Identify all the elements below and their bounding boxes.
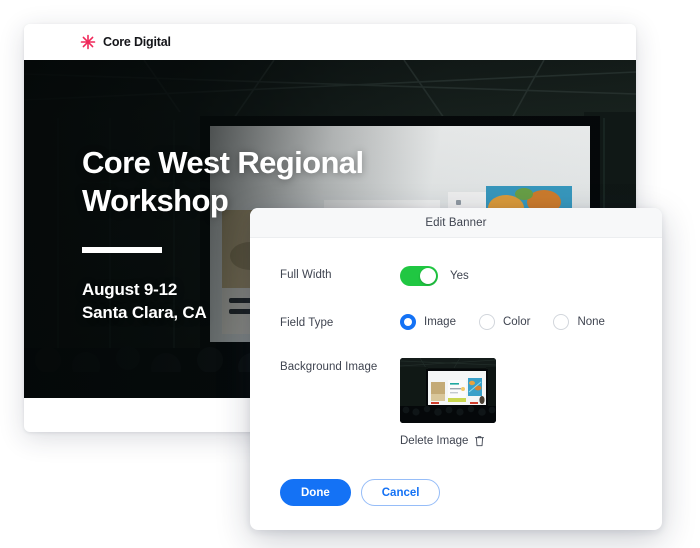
modal-footer: Done Cancel (250, 475, 662, 530)
field-type-label: Field Type (280, 314, 400, 329)
edit-banner-modal: Edit Banner Full Width Yes Field Type Im… (250, 208, 662, 530)
asterisk-starburst-icon (80, 34, 96, 50)
cancel-button[interactable]: Cancel (361, 479, 441, 506)
full-width-toggle[interactable] (400, 266, 438, 286)
done-button[interactable]: Done (280, 479, 351, 506)
background-image-thumbnail[interactable] (400, 358, 496, 423)
full-width-value: Yes (450, 270, 469, 282)
radio-dot-color[interactable] (479, 314, 495, 330)
field-type-control: Image Color None (400, 314, 632, 330)
thumbnail-column: Delete Image (400, 358, 496, 447)
delete-image-label: Delete Image (400, 435, 468, 447)
background-image-label: Background Image (280, 358, 400, 373)
background-image-control: Delete Image (400, 358, 632, 447)
modal-title: Edit Banner (425, 217, 486, 229)
modal-body: Full Width Yes Field Type Image (250, 238, 662, 447)
brand-logo[interactable]: Core Digital (80, 34, 171, 50)
radio-dot-none[interactable] (553, 314, 569, 330)
field-type-radio-group: Image Color None (400, 314, 605, 330)
delete-image-button[interactable]: Delete Image (400, 435, 485, 447)
radio-label-image: Image (424, 316, 456, 328)
radio-option-color[interactable]: Color (479, 314, 530, 330)
full-width-control: Yes (400, 266, 632, 286)
trash-icon (474, 435, 485, 447)
field-row-background-image: Background Image (280, 358, 632, 447)
toggle-knob (420, 268, 436, 284)
hero-divider (82, 247, 162, 253)
field-row-full-width: Full Width Yes (280, 266, 632, 286)
full-width-label: Full Width (280, 266, 400, 281)
radio-option-image[interactable]: Image (400, 314, 456, 330)
field-row-field-type: Field Type Image Color None (280, 314, 632, 330)
modal-header: Edit Banner (250, 208, 662, 238)
radio-label-color: Color (503, 316, 530, 328)
brand-name: Core Digital (103, 35, 171, 49)
radio-option-none[interactable]: None (553, 314, 605, 330)
radio-dot-image[interactable] (400, 314, 416, 330)
site-header: Core Digital (24, 24, 636, 60)
radio-label-none: None (577, 316, 605, 328)
